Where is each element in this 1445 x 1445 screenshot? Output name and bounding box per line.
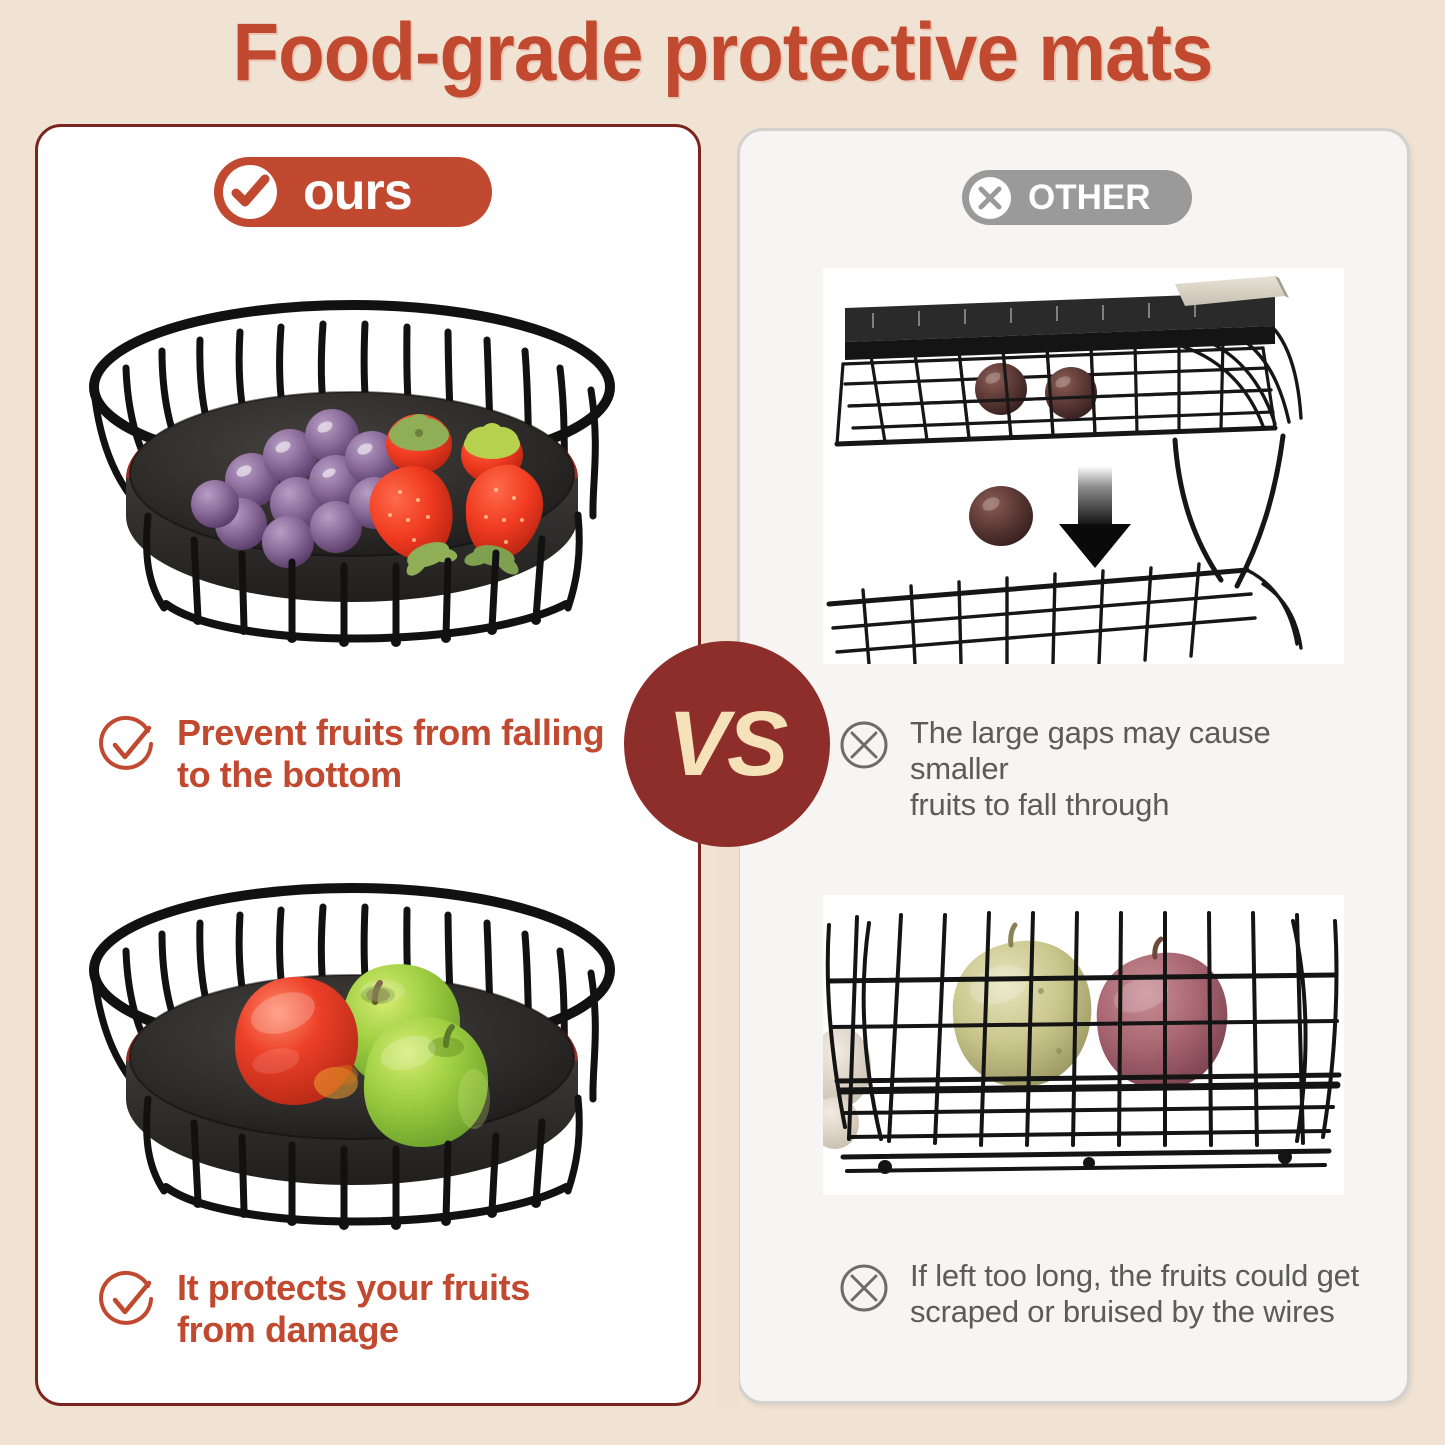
vs-badge: VS	[624, 641, 830, 847]
caption-other-1-text: The large gaps may cause smaller fruits …	[910, 715, 1366, 823]
caption-line-1: If left too long, the fruits could get	[910, 1258, 1359, 1293]
x-circle-outline-icon	[836, 717, 892, 778]
page-title: Food-grade protective mats	[51, 6, 1395, 100]
badge-ours: ours	[214, 157, 492, 227]
caption-other-2: If left too long, the fruits could get s…	[836, 1258, 1366, 1330]
check-circle-outline-icon	[96, 714, 158, 781]
caption-ours-2: It protects your fruits from damage	[96, 1267, 636, 1351]
caption-other-2-text: If left too long, the fruits could get s…	[910, 1258, 1359, 1330]
caption-line-2: fruits to fall through	[910, 787, 1169, 822]
badge-other-label: OTHER	[1028, 180, 1151, 215]
caption-ours-2-text: It protects your fruits from damage	[177, 1267, 530, 1351]
check-circle-icon	[223, 165, 277, 219]
caption-line-1: The large gaps may cause smaller	[910, 715, 1271, 786]
caption-other-1: The large gaps may cause smaller fruits …	[836, 715, 1366, 823]
caption-line-2: from damage	[177, 1309, 399, 1350]
badge-ours-label: ours	[303, 166, 412, 218]
wire-basket-with-grapes-and-strawberries	[78, 272, 626, 672]
check-circle-outline-icon	[96, 1269, 158, 1336]
x-circle-outline-icon	[836, 1260, 892, 1321]
caption-ours-1: Prevent fruits from falling to the botto…	[96, 712, 636, 796]
wire-rack-fruits-pressed-against-wires	[823, 895, 1344, 1195]
wire-basket-with-apples	[78, 855, 626, 1255]
caption-ours-1-text: Prevent fruits from falling to the botto…	[177, 712, 604, 796]
badge-other: OTHER	[962, 170, 1192, 225]
vs-stem	[717, 780, 739, 1410]
x-circle-icon	[969, 177, 1011, 219]
caption-line-2: to the bottom	[177, 754, 402, 795]
caption-line-1: Prevent fruits from falling	[177, 712, 604, 753]
caption-line-2: scraped or bruised by the wires	[910, 1294, 1335, 1329]
vs-label: VS	[668, 698, 787, 790]
wire-rack-grape-falling-through	[823, 268, 1344, 664]
caption-line-1: It protects your fruits	[177, 1267, 530, 1308]
